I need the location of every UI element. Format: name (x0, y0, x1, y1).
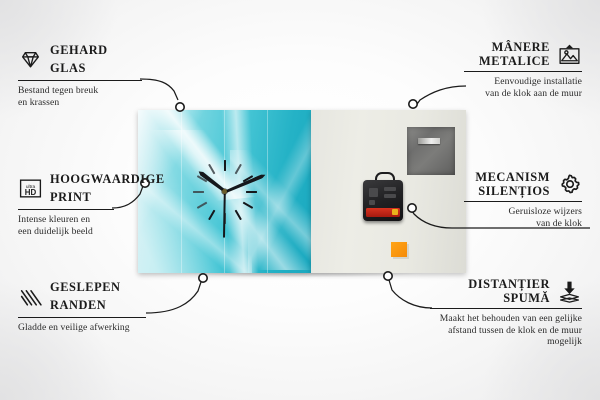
callout-rule (18, 317, 146, 318)
diamond-icon (18, 47, 43, 72)
callout-title: HOOGWAARDIGE PRINT (50, 170, 165, 206)
clock-back-panel (311, 110, 466, 273)
leader-line-geslepen-randen (146, 282, 201, 313)
callout-description: Geruisloze wijzers van de klok (464, 206, 582, 229)
mechanism-detail (384, 194, 396, 198)
callout-rule (464, 71, 582, 72)
foam-spacer (391, 242, 407, 257)
callout-title: GEHARD GLAS (50, 41, 108, 77)
callout-header: MECANISM SILENȚIOS (464, 171, 582, 198)
hanger-slot (418, 138, 440, 144)
gear-icon (557, 172, 582, 197)
leader-line-manere-metalice (415, 86, 466, 107)
mechanism-detail (384, 187, 396, 191)
leader-line-distantier-spuma (389, 280, 432, 308)
callout-title: MÂNERE METALICE (479, 41, 550, 68)
leader-dot-manere-metalice (409, 100, 417, 108)
callout-title: DISTANȚIER SPUMĂ (468, 278, 550, 305)
mechanism-detail (369, 200, 375, 205)
callout-gehard-glas: GEHARD GLAS Bestand tegen breuk en krass… (18, 41, 142, 108)
infographic-canvas: GEHARD GLAS Bestand tegen breuk en krass… (0, 0, 600, 400)
clock-second-hand (223, 191, 225, 237)
callout-geslepen-randen: GESLEPEN RANDEN Gladde en veilige afwerk… (18, 278, 146, 334)
callout-description: Eenvoudige installatie van de klok aan d… (464, 76, 582, 99)
ultra-hd-icon: ultra HD (18, 176, 43, 201)
product-image (138, 110, 466, 274)
leader-line-gehard-glas (140, 79, 178, 100)
quartz-mechanism (363, 180, 403, 221)
callout-title: MECANISM SILENȚIOS (475, 171, 550, 198)
callout-title: GESLEPEN RANDEN (50, 278, 121, 314)
aa-battery (366, 208, 400, 217)
callout-description: Intense kleuren en een duidelijk beeld (18, 214, 114, 237)
callout-rule (464, 201, 582, 202)
callout-header: GEHARD GLAS (18, 41, 142, 77)
battery-plus-terminal (392, 209, 398, 215)
callout-rule (430, 308, 582, 309)
clock-center-cap (222, 189, 227, 194)
callout-header: DISTANȚIER SPUMĂ (430, 278, 582, 305)
mechanism-detail (369, 188, 378, 197)
callout-description: Bestand tegen breuk en krassen (18, 85, 142, 108)
callout-rule (18, 80, 142, 81)
arrow-down-layers-icon (557, 279, 582, 304)
callout-distantier-spuma: DISTANȚIER SPUMĂ Maakt het behouden van … (430, 278, 582, 348)
callout-description: Gladde en veilige afwerking (18, 322, 146, 333)
callout-mecanism-silentios: MECANISM SILENȚIOS Geruisloze wijzers va… (464, 171, 582, 229)
hanging-picture-icon (557, 42, 582, 67)
diagonal-lines-icon (18, 284, 43, 309)
callout-hoogwaardige-print: ultra HD HOOGWAARDIGE PRINT Intense kleu… (18, 170, 114, 237)
metal-hanger-plate (407, 127, 455, 175)
callout-manere-metalice: MÂNERE METALICE Eenvoudige installatie v… (464, 41, 582, 99)
callout-header: GESLEPEN RANDEN (18, 278, 146, 314)
callout-header: MÂNERE METALICE (464, 41, 582, 68)
callout-header: ultra HD HOOGWAARDIGE PRINT (18, 170, 114, 206)
callout-rule (18, 209, 114, 210)
svg-text:HD: HD (25, 187, 37, 196)
callout-description: Maakt het behouden van een gelijke afsta… (430, 313, 582, 347)
